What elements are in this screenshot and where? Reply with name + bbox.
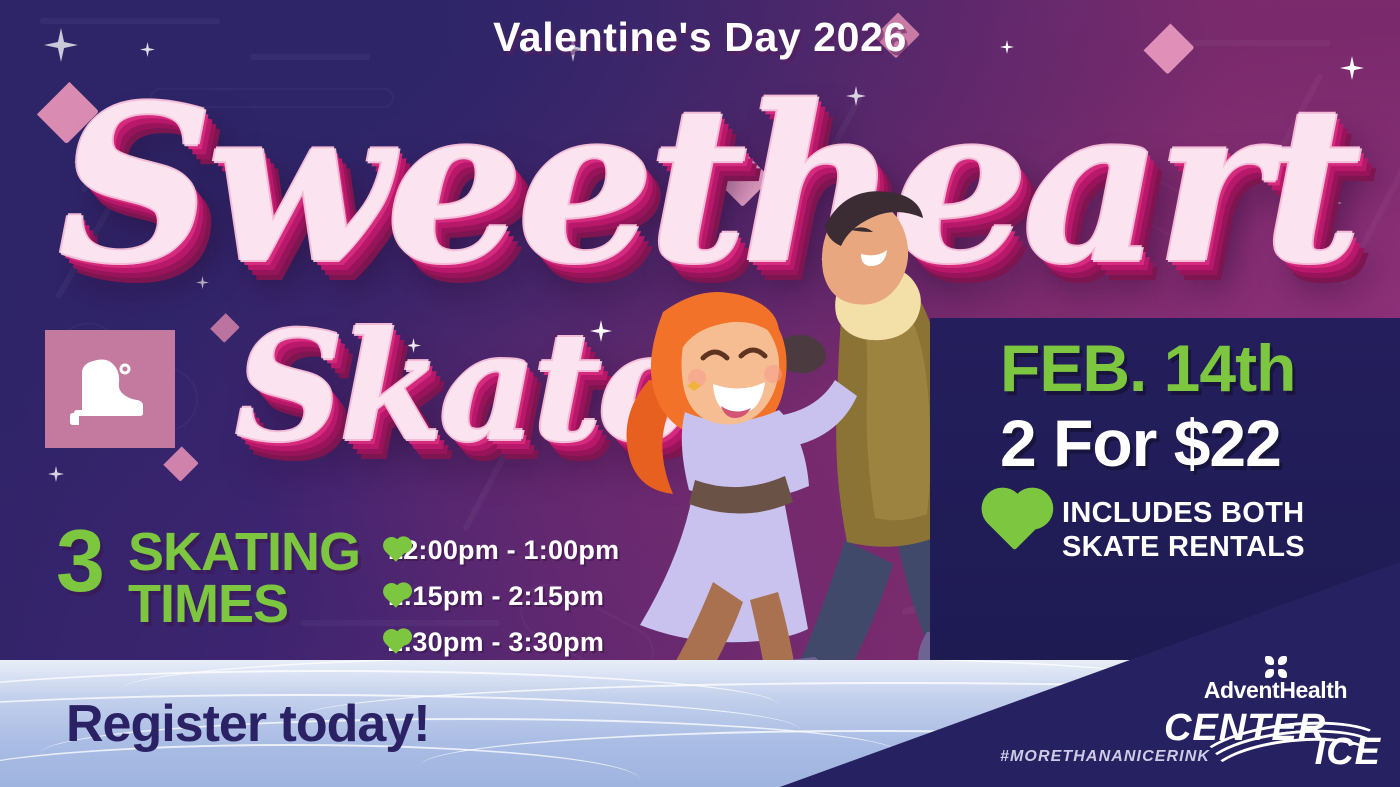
sessions-label: SKATING TIMES <box>128 527 360 631</box>
sessions-count: 3 <box>56 524 105 598</box>
adventhealth-pinwheel-icon <box>1265 656 1287 678</box>
ice-skate-icon <box>63 355 159 431</box>
decorative-heart <box>163 446 198 481</box>
brand-word-ice: ICE <box>1315 731 1381 774</box>
session-time: 2:30pm - 3:30pm <box>388 627 604 658</box>
offer-includes: INCLUDES BOTH SKATE RENTALS <box>1062 496 1305 564</box>
eyebrow-text: Valentine's Day 2026 <box>493 14 907 60</box>
sessions-label-line-1: SKATING <box>128 527 360 579</box>
list-item: 12:00pm - 1:00pm <box>388 532 619 569</box>
session-time: 1:15pm - 2:15pm <box>388 581 604 612</box>
offer-date: FEB. 14th <box>1000 330 1295 406</box>
cta-register[interactable]: Register today! <box>66 694 430 754</box>
valentines-skate-poster: Valentine's Day 2026 Sweetheart Skate <box>0 0 1400 787</box>
list-item: 1:15pm - 2:15pm <box>388 578 619 615</box>
brand-name-adventhealth: AdventHealth <box>1168 679 1383 702</box>
offer-price: 2 For $22 <box>1000 405 1281 481</box>
session-time: 12:00pm - 1:00pm <box>388 535 619 566</box>
list-item: 2:30pm - 3:30pm <box>388 624 619 661</box>
sessions-label-line-2: TIMES <box>128 579 360 631</box>
brand-center-ice: CENTER ICE <box>1168 705 1383 767</box>
sparkle-icon <box>48 466 64 482</box>
brand-logo[interactable]: AdventHealth CENTER ICE <box>1168 656 1383 767</box>
session-times-list: 12:00pm - 1:00pm 1:15pm - 2:15pm 2:30pm … <box>388 532 619 670</box>
offer-includes-line-2: SKATE RENTALS <box>1062 530 1305 564</box>
offer-includes-line-1: INCLUDES BOTH <box>1062 496 1305 530</box>
eyebrow-title: Valentine's Day 2026 <box>0 14 1400 61</box>
